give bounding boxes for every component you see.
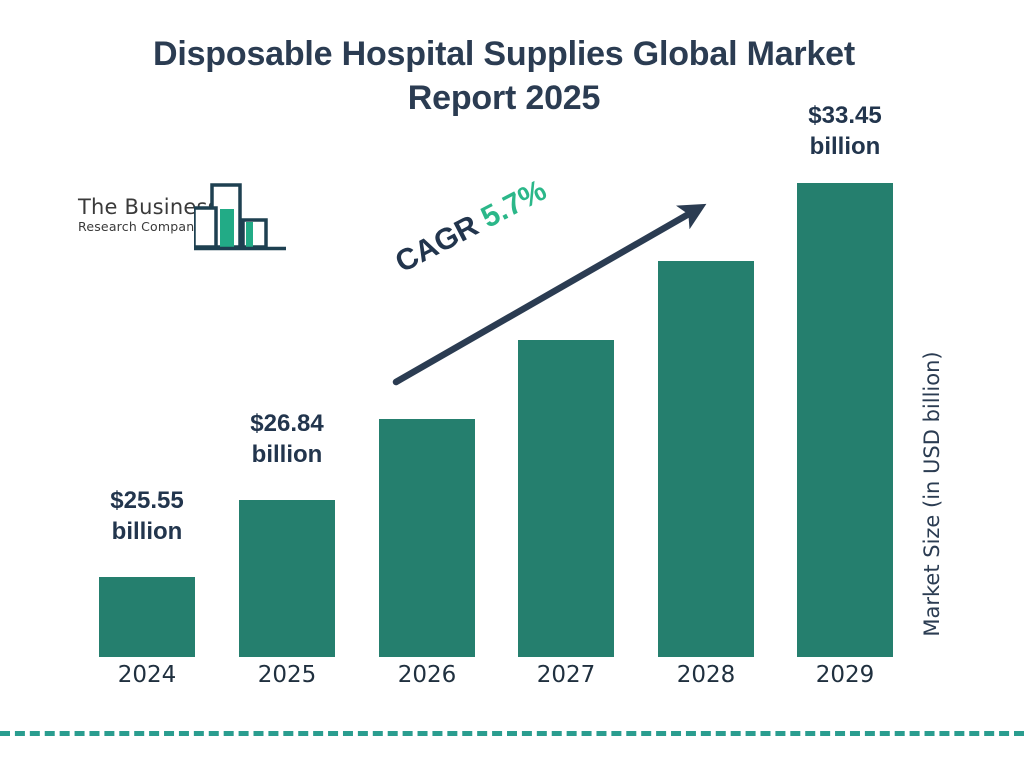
cagr-value: 5.7% [476, 174, 552, 235]
bar-2028 [658, 261, 754, 657]
value-label-2029-amount: $33.45 [765, 100, 925, 131]
value-label-2025-unit: billion [207, 439, 367, 470]
cagr-label: CAGR 5.7% [390, 174, 552, 280]
value-label-2029-unit: billion [765, 131, 925, 162]
bar-2029 [797, 183, 893, 657]
y-axis-title: Market Size (in USD billion) [912, 330, 952, 670]
x-tick-2027: 2027 [518, 662, 614, 688]
value-label-2024-amount: $25.55 [67, 485, 227, 516]
x-tick-2024: 2024 [99, 662, 195, 688]
y-axis-title-text: Market Size (in USD billion) [920, 322, 944, 666]
bar-2026 [379, 419, 475, 657]
chart-page: Disposable Hospital Supplies Global Mark… [0, 0, 1024, 768]
x-tick-2028: 2028 [658, 662, 754, 688]
value-label-2025: $26.84 billion [207, 408, 367, 470]
x-tick-2029: 2029 [797, 662, 893, 688]
bar-chart-plot-area: $25.55 billion $26.84 billion $33.45 bil… [0, 0, 1024, 768]
bar-2027 [518, 340, 614, 657]
bar-2025 [239, 500, 335, 657]
cagr-prefix: CAGR [390, 209, 484, 279]
value-label-2024: $25.55 billion [67, 485, 227, 547]
value-label-2029: $33.45 billion [765, 100, 925, 162]
bar-2024 [99, 577, 195, 657]
value-label-2025-amount: $26.84 [207, 408, 367, 439]
footer-divider [0, 731, 1024, 736]
x-tick-2025: 2025 [239, 662, 335, 688]
x-tick-2026: 2026 [379, 662, 475, 688]
value-label-2024-unit: billion [67, 516, 227, 547]
